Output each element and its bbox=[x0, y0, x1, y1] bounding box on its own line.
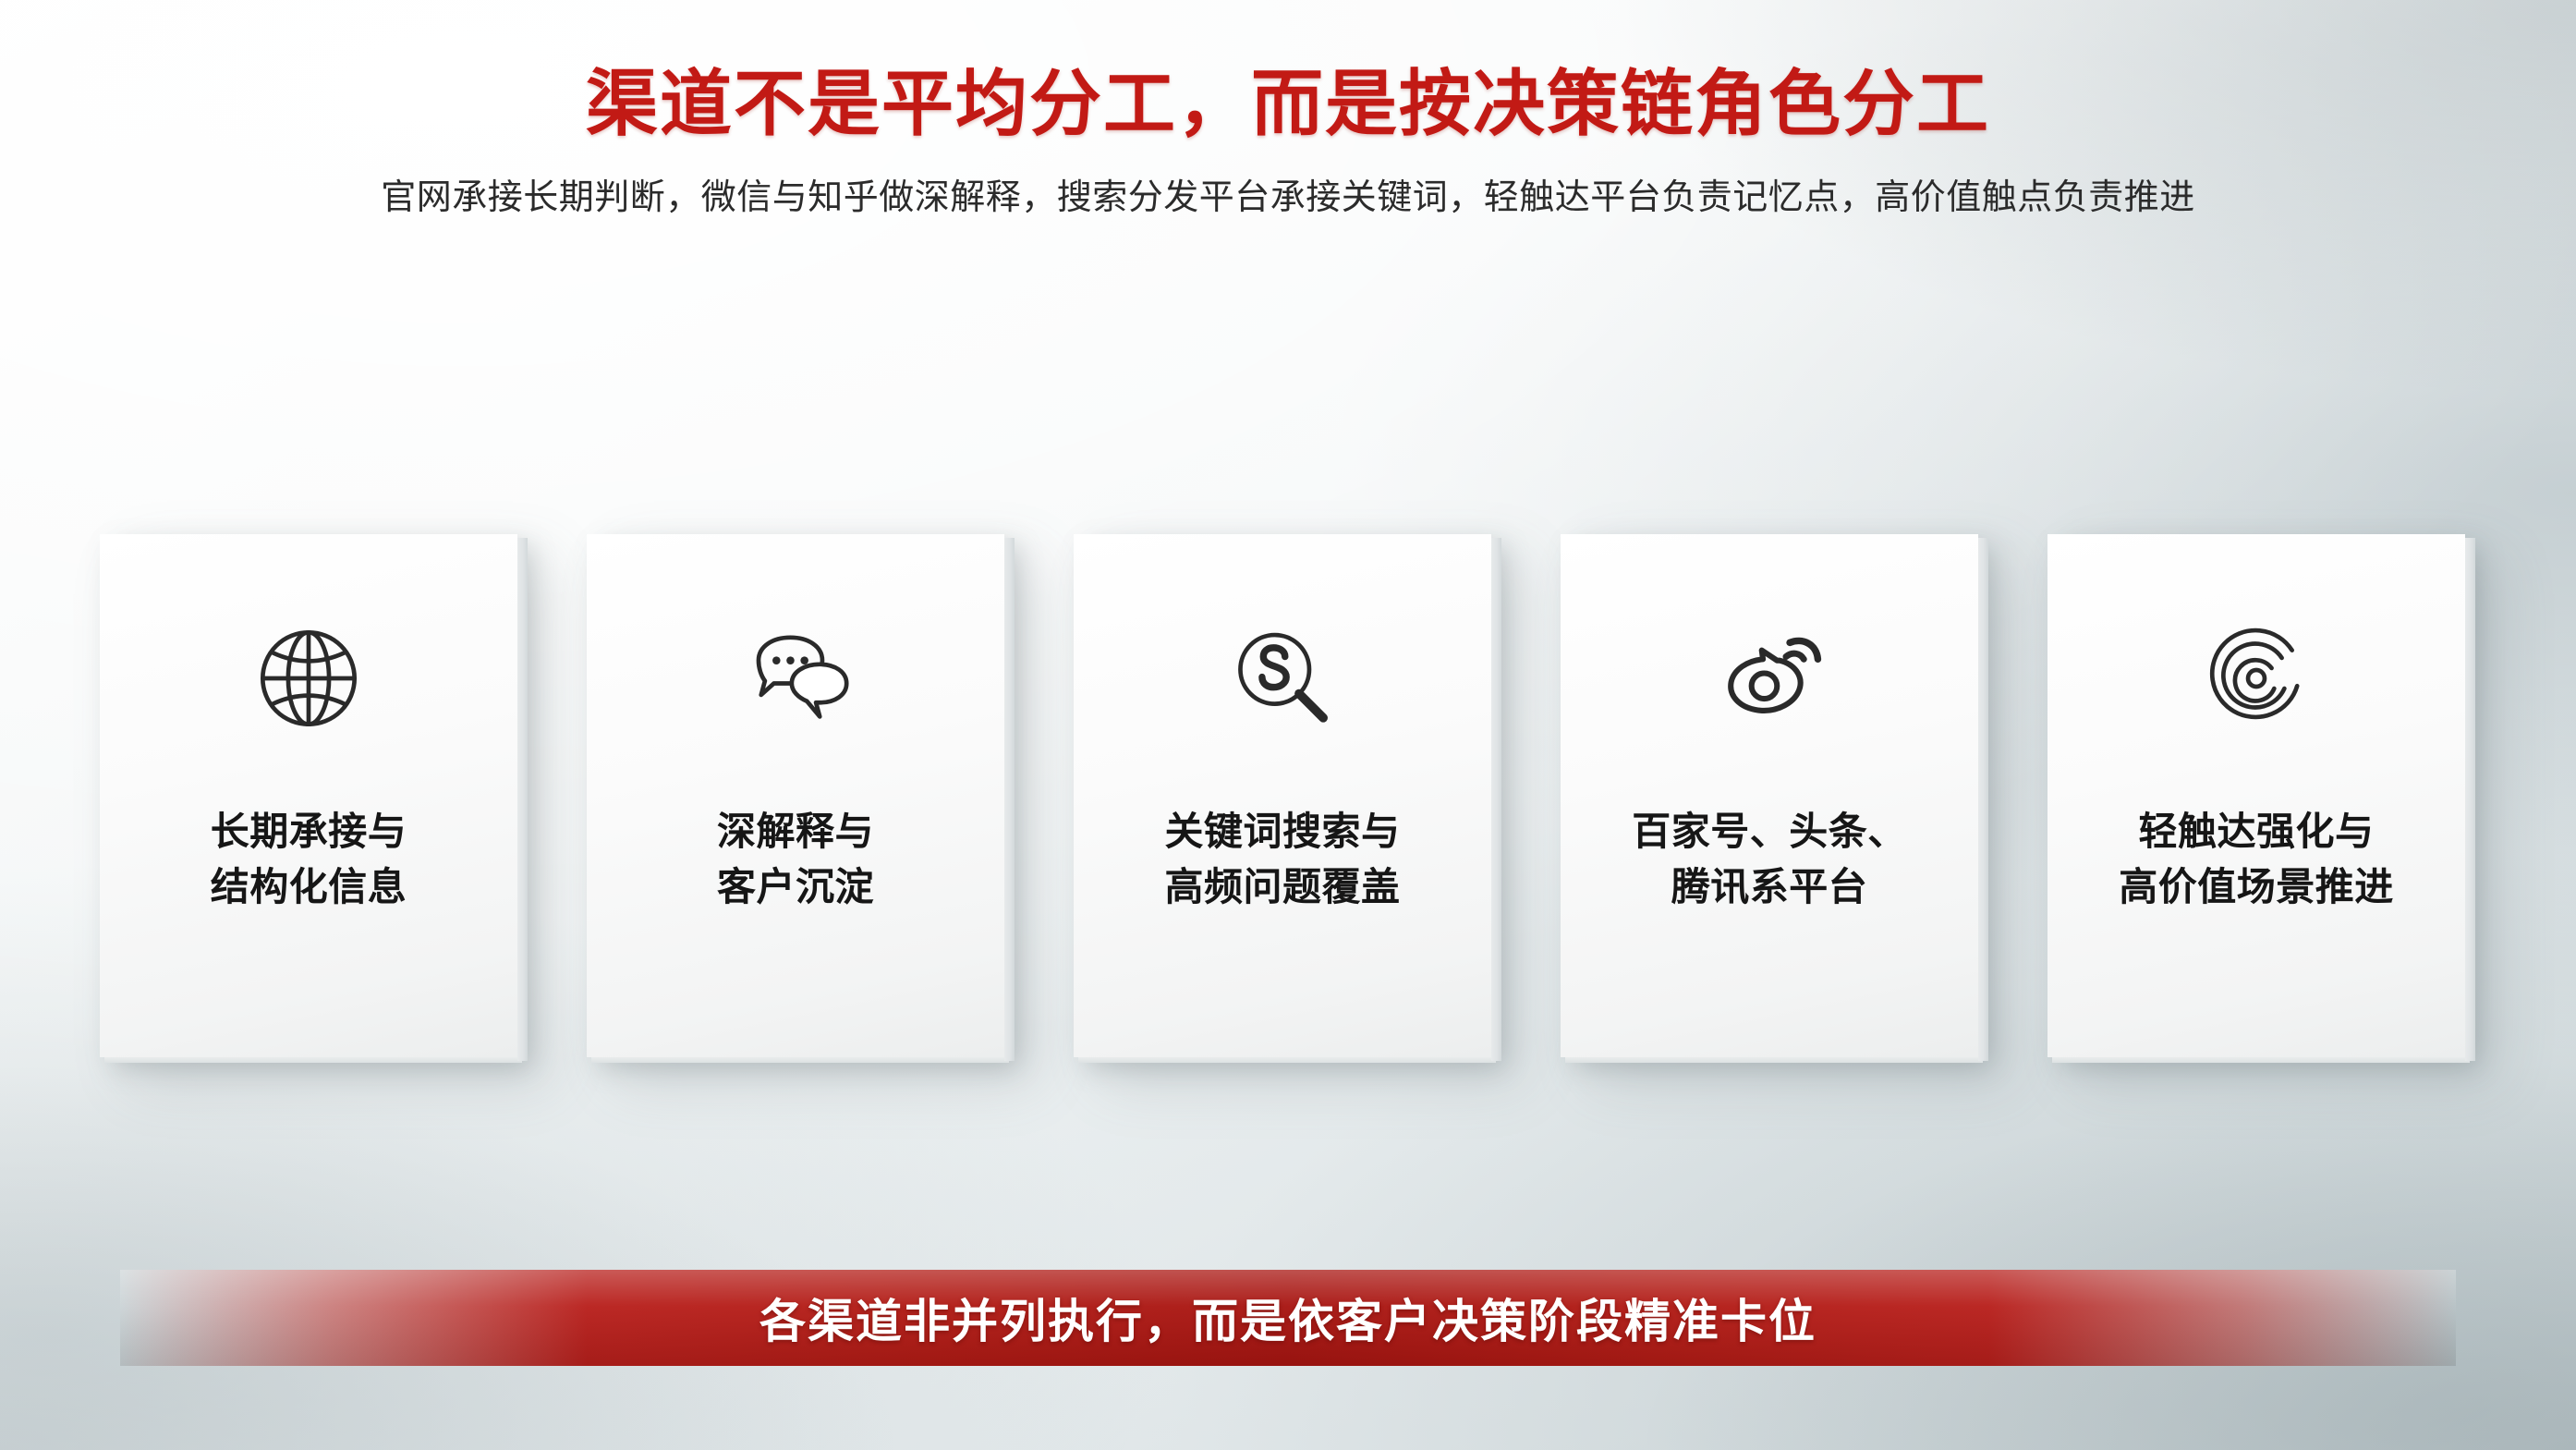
channel-card-4-label: 百家号、头条、 腾讯系平台 bbox=[1617, 804, 1922, 914]
page-title: 渠道不是平均分工，而是按决策链角色分工 bbox=[0, 67, 2576, 142]
channel-card-2[interactable]: 深解释与 客户沉淀 bbox=[587, 534, 1004, 1057]
channel-card-3-line2: 高频问题覆盖 bbox=[1164, 859, 1400, 915]
magnifier-s-icon bbox=[1218, 614, 1347, 743]
channel-card-3-label: 关键词搜索与 高频问题覆盖 bbox=[1149, 804, 1415, 914]
channel-card-3-line1: 关键词搜索与 bbox=[1164, 810, 1400, 853]
channel-card-5-line2: 高价值场景推进 bbox=[2119, 859, 2394, 915]
channel-card-2-line1: 深解释与 bbox=[717, 810, 874, 853]
channel-card-5-line1: 轻触达强化与 bbox=[2138, 810, 2374, 853]
channel-card-2-line2: 客户沉淀 bbox=[717, 859, 874, 915]
channel-card-1[interactable]: 长期承接与 结构化信息 bbox=[100, 534, 517, 1057]
channel-card-row: 长期承接与 结构化信息 深解释与 客户沉淀 bbox=[100, 534, 2484, 1061]
channel-card-4[interactable]: 百家号、头条、 腾讯系平台 bbox=[1561, 534, 1978, 1057]
weibo-broadcast-icon bbox=[1705, 614, 1834, 743]
channel-card-5-label: 轻触达强化与 高价值场景推进 bbox=[2104, 804, 2409, 914]
channel-card-1-label: 长期承接与 结构化信息 bbox=[196, 804, 422, 914]
page-subtitle: 官网承接长期判断，微信与知乎做深解释，搜索分发平台承接关键词，轻触达平台负责记忆… bbox=[0, 176, 2576, 221]
slide-header: 渠道不是平均分工，而是按决策链角色分工 官网承接长期判断，微信与知乎做深解释，搜… bbox=[0, 67, 2576, 221]
channel-card-1-line2: 结构化信息 bbox=[211, 859, 407, 915]
bottom-conclusion-banner: 各渠道非并列执行，而是依客户决策阶段精准卡位 bbox=[120, 1270, 2456, 1366]
slide-canvas: 渠道不是平均分工，而是按决策链角色分工 官网承接长期判断，微信与知乎做深解释，搜… bbox=[0, 0, 2576, 1450]
chat-bubbles-icon bbox=[731, 614, 860, 743]
channel-card-4-line1: 百家号、头条、 bbox=[1632, 810, 1907, 853]
channel-card-5[interactable]: 轻触达强化与 高价值场景推进 bbox=[2047, 534, 2465, 1057]
channel-card-3[interactable]: 关键词搜索与 高频问题覆盖 bbox=[1074, 534, 1491, 1057]
radar-rings-icon bbox=[2192, 614, 2321, 743]
channel-card-2-label: 深解释与 客户沉淀 bbox=[702, 804, 889, 914]
channel-card-1-line1: 长期承接与 bbox=[211, 810, 407, 853]
banner-text: 各渠道非并列执行，而是依客户决策阶段精准卡位 bbox=[759, 1285, 1817, 1351]
globe-icon bbox=[244, 614, 373, 743]
channel-card-4-line2: 腾讯系平台 bbox=[1632, 859, 1907, 915]
